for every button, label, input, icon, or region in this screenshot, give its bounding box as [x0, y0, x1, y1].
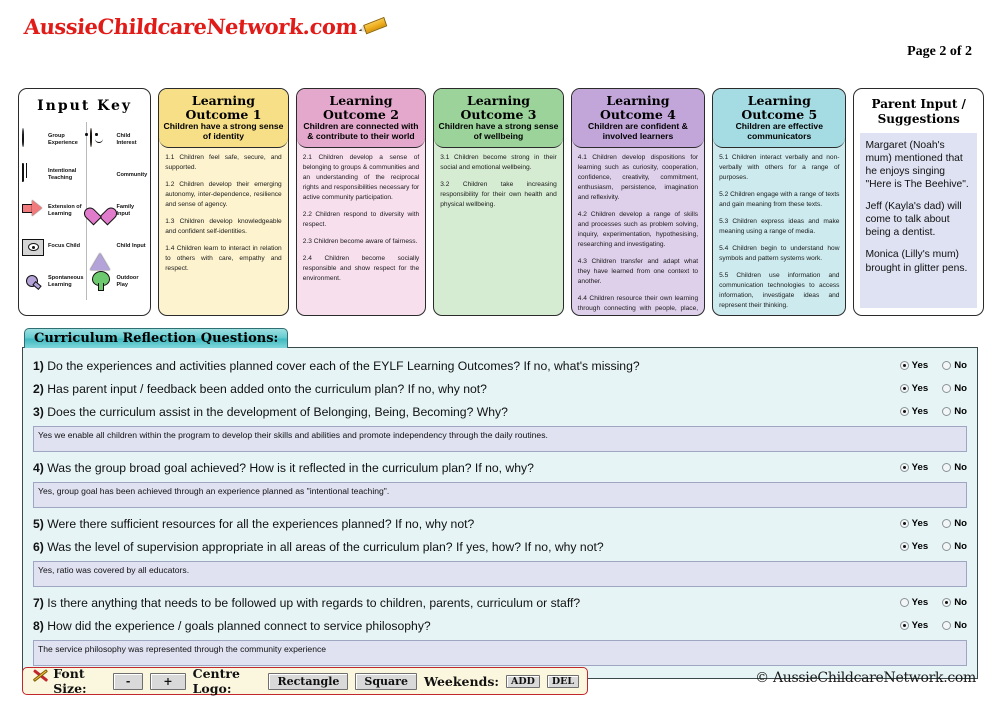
radio-dot[interactable]: [900, 621, 909, 630]
radio-label: Yes: [912, 597, 929, 608]
radio-label: No: [954, 360, 967, 371]
font-size-label: Font Size:: [53, 666, 106, 696]
question-text-4: 4) Was the group broad goal achieved? Ho…: [33, 461, 867, 475]
parent-input-panel: Parent Input / Suggestions Margaret (Noa…: [853, 88, 984, 316]
key-item-child-input: Child Input: [90, 232, 147, 262]
weekends-label: Weekends:: [424, 674, 499, 689]
radio-dot[interactable]: [900, 519, 909, 528]
outcome-subtitle: Children have a strong sense of wellbein…: [438, 122, 559, 142]
heart-icon: [90, 200, 112, 222]
outcomes-row: Input Key Group Experience Intentional T…: [18, 88, 984, 316]
radio-dot[interactable]: [900, 463, 909, 472]
outcome-point: 3.2 Children take increasing responsibil…: [440, 180, 557, 210]
radio-dot[interactable]: [900, 384, 909, 393]
radio-yes-2[interactable]: Yes: [900, 383, 929, 394]
key-label: Outdoor Play: [116, 275, 147, 290]
learning-outcome-3-card: Learning Outcome 3 Children have a stron…: [433, 88, 564, 316]
key-label: Child Interest: [116, 133, 147, 148]
question-text-6: 6) Was the level of supervision appropri…: [33, 540, 867, 554]
triangle-icon: [90, 236, 112, 258]
radio-yes-3[interactable]: Yes: [900, 406, 929, 417]
question-number: 7): [33, 596, 44, 610]
question-number: 6): [33, 540, 44, 554]
radio-dot[interactable]: [900, 361, 909, 370]
weekends-del-button[interactable]: DEL: [547, 675, 579, 688]
question-row-2: 2) Has parent input / feedback been adde…: [33, 377, 967, 400]
key-item-extension-of-learning: Extension of Learning: [22, 196, 83, 226]
outcome-subtitle: Children are confident & involved learne…: [576, 122, 700, 142]
radio-dot[interactable]: [900, 598, 909, 607]
arrow-icon: [22, 200, 44, 222]
star-icon: [90, 164, 112, 186]
key-item-group-experience: Group Experience: [22, 125, 83, 155]
outcome-point: 4.4 Children resource their own learning…: [578, 294, 698, 316]
question-number: 5): [33, 517, 44, 531]
answer-radios-7: Yes No: [867, 597, 967, 608]
input-key-right-column: Child Interest Community Family Input Ch…: [87, 122, 150, 300]
radio-yes-7[interactable]: Yes: [900, 597, 929, 608]
question-number: 4): [33, 461, 44, 475]
radio-no-3[interactable]: No: [942, 406, 967, 417]
book-icon: [22, 164, 44, 186]
outcome-point: 1.1 Children feel safe, secure, and supp…: [165, 153, 282, 173]
question-number: 3): [33, 405, 44, 419]
question-text-8: 8) How did the experience / goals planne…: [33, 619, 867, 633]
outcome-title: Learning Outcome 3: [438, 94, 559, 121]
pencil-icon: [358, 18, 386, 36]
radio-dot[interactable]: [942, 407, 951, 416]
outcome-header: Learning Outcome 1 Children have a stron…: [159, 89, 288, 148]
radio-no-4[interactable]: No: [942, 462, 967, 473]
outcome-subtitle: Children have a strong sense of identity: [163, 122, 284, 142]
radio-label: No: [954, 406, 967, 417]
question-label: Has parent input / feedback been added o…: [47, 382, 487, 396]
outcome-point: 5.3 Children express ideas and make mean…: [719, 217, 839, 237]
radio-no-2[interactable]: No: [942, 383, 967, 394]
outcome-title: Learning Outcome 1: [163, 94, 284, 121]
question-row-6: 6) Was the level of supervision appropri…: [33, 535, 967, 558]
outcome-body: 2.1 Children develop a sense of belongin…: [297, 148, 426, 295]
key-item-spontaneous-learning: Spontaneous Learning: [22, 267, 83, 297]
answer-radios-8: Yes No: [867, 620, 967, 631]
question-label: Were there sufficient resources for all …: [47, 517, 474, 531]
radio-dot[interactable]: [942, 542, 951, 551]
tree-icon: [90, 271, 112, 293]
outcome-point: 1.4 Children learn to interact in relati…: [165, 244, 282, 274]
answer-field-3[interactable]: Yes we enable all children within the pr…: [33, 426, 967, 452]
radio-dot[interactable]: [942, 519, 951, 528]
radio-label: Yes: [912, 360, 929, 371]
question-label: Does the curriculum assist in the develo…: [47, 405, 508, 419]
reflection-section-title: Curriculum Reflection Questions:: [24, 328, 288, 348]
question-row-5: 5) Were there sufficient resources for a…: [33, 512, 967, 535]
outcome-point: 5.4 Children begin to understand how sym…: [719, 244, 839, 264]
radio-label: No: [954, 541, 967, 552]
radio-dot[interactable]: [942, 621, 951, 630]
input-key-panel: Input Key Group Experience Intentional T…: [18, 88, 151, 316]
question-label: Was the level of supervision appropriate…: [47, 540, 603, 554]
answer-radios-6: Yes No: [867, 541, 967, 552]
question-label: How did the experience / goals planned c…: [47, 619, 430, 633]
learning-outcome-1-card: Learning Outcome 1 Children have a stron…: [158, 88, 289, 316]
key-label: Group Experience: [48, 133, 83, 148]
outcome-point: 2.2 Children respond to diversity with r…: [303, 210, 420, 230]
radio-label: No: [954, 597, 967, 608]
outcome-point: 2.1 Children develop a sense of belongin…: [303, 153, 420, 203]
cloud-icon: [22, 129, 44, 151]
radio-yes-6[interactable]: Yes: [900, 541, 929, 552]
outcome-point: 4.1 Children develop dispositions for le…: [578, 153, 698, 203]
outcome-body: 4.1 Children develop dispositions for le…: [572, 148, 704, 316]
reflection-section: Curriculum Reflection Questions: 1) Do t…: [22, 328, 978, 679]
logo-text: AussieChildcareNetwork.com: [23, 14, 358, 39]
outcome-point: 5.2 Children engage with a range of text…: [719, 190, 839, 210]
learning-outcome-4-card: Learning Outcome 4 Children are confiden…: [571, 88, 705, 316]
outcome-header: Learning Outcome 2 Children are connecte…: [297, 89, 426, 148]
radio-no-8[interactable]: No: [942, 620, 967, 631]
radio-no-7[interactable]: No: [942, 597, 967, 608]
smiley-face-icon: [90, 129, 112, 151]
parent-input-entry: Jeff (Kayla's dad) will come to talk abo…: [865, 200, 972, 239]
radio-label: Yes: [912, 406, 929, 417]
lightbulb-icon: [22, 271, 44, 293]
key-label: Family Input: [116, 204, 147, 219]
key-item-child-interest: Child Interest: [90, 125, 147, 155]
outcome-title: Learning Outcome 4: [576, 94, 700, 121]
radio-no-6[interactable]: No: [942, 541, 967, 552]
radio-label: Yes: [912, 462, 929, 473]
answer-radios-2: Yes No: [867, 383, 967, 394]
outcome-header: Learning Outcome 5 Children are effectiv…: [713, 89, 845, 148]
question-label: Do the experiences and activities planne…: [47, 359, 639, 373]
parent-input-entry: Margaret (Noah's mum) mentioned that he …: [865, 139, 972, 191]
outcome-point: 1.2 Children develop their emerging auto…: [165, 180, 282, 210]
question-text-1: 1) Do the experiences and activities pla…: [33, 359, 867, 373]
key-item-family-input: Family Input: [90, 196, 147, 226]
site-logo: AussieChildcareNetwork.com: [23, 14, 386, 39]
key-label: Extension of Learning: [48, 204, 83, 219]
answer-field-8[interactable]: The service philosophy was represented t…: [33, 640, 967, 666]
parent-input-entry: Monica (Lilly's mum) brought in glitter …: [865, 248, 972, 274]
answer-radios-5: Yes No: [867, 518, 967, 529]
question-text-2: 2) Has parent input / feedback been adde…: [33, 382, 867, 396]
outcome-title: Learning Outcome 2: [301, 94, 422, 121]
radio-label: Yes: [912, 383, 929, 394]
tools-icon: [31, 672, 46, 690]
outcome-header: Learning Outcome 3 Children have a stron…: [434, 89, 563, 148]
key-label: Intentional Teaching: [48, 168, 83, 183]
radio-no-5[interactable]: No: [942, 518, 967, 529]
key-label: Focus Child: [48, 243, 80, 250]
reflection-questions-box: 1) Do the experiences and activities pla…: [22, 347, 978, 679]
outcome-title: Learning Outcome 5: [717, 94, 841, 121]
radio-label: No: [954, 383, 967, 394]
question-row-1: 1) Do the experiences and activities pla…: [33, 354, 967, 377]
answer-radios-1: Yes No: [867, 360, 967, 371]
outcome-point: 2.4 Children become socially responsible…: [303, 254, 420, 284]
key-item-community: Community: [90, 160, 147, 190]
outcome-point: 3.1 Children become strong in their soci…: [440, 153, 557, 173]
question-row-7: 7) Is there anything that needs to be fo…: [33, 591, 967, 614]
input-key-title: Input Key: [19, 89, 150, 116]
question-label: Was the group broad goal achieved? How i…: [47, 461, 534, 475]
logo-square-button[interactable]: Square: [355, 673, 417, 690]
eye-icon: [22, 236, 44, 258]
key-label: Child Input: [116, 243, 145, 250]
outcome-header: Learning Outcome 4 Children are confiden…: [572, 89, 704, 148]
key-label: Community: [116, 172, 147, 179]
radio-dot[interactable]: [900, 407, 909, 416]
question-text-5: 5) Were there sufficient resources for a…: [33, 517, 867, 531]
radio-label: No: [954, 518, 967, 529]
radio-dot[interactable]: [942, 384, 951, 393]
footer-copyright: © AussieChildcareNetwork.com: [755, 670, 976, 686]
key-item-intentional-teaching: Intentional Teaching: [22, 160, 83, 190]
outcome-subtitle: Children are connected with & contribute…: [301, 122, 422, 142]
radio-label: Yes: [912, 518, 929, 529]
outcome-point: 1.3 Children develop knowledgeable and c…: [165, 217, 282, 237]
input-key-left-column: Group Experience Intentional Teaching Ex…: [19, 122, 87, 300]
key-item-outdoor-play: Outdoor Play: [90, 267, 147, 297]
parent-input-title: Parent Input / Suggestions: [854, 89, 983, 133]
page-number: Page 2 of 2: [907, 44, 972, 60]
weekends-add-button[interactable]: ADD: [506, 675, 540, 688]
question-row-8: 8) How did the experience / goals planne…: [33, 614, 967, 637]
radio-label: No: [954, 620, 967, 631]
radio-dot[interactable]: [942, 361, 951, 370]
radio-yes-4[interactable]: Yes: [900, 462, 929, 473]
radio-dot[interactable]: [942, 463, 951, 472]
outcome-body: 5.1 Children interact verbally and non-v…: [713, 148, 845, 316]
radio-yes-8[interactable]: Yes: [900, 620, 929, 631]
font-size-decrease-button[interactable]: -: [113, 673, 144, 690]
learning-outcome-2-card: Learning Outcome 2 Children are connecte…: [296, 88, 427, 316]
radio-label: Yes: [912, 541, 929, 552]
outcome-point: 5.1 Children interact verbally and non-v…: [719, 153, 839, 183]
question-text-3: 3) Does the curriculum assist in the dev…: [33, 405, 867, 419]
answer-field-4[interactable]: Yes, group goal has been achieved throug…: [33, 482, 967, 508]
radio-label: Yes: [912, 620, 929, 631]
radio-no-1[interactable]: No: [942, 360, 967, 371]
outcome-point: 4.3 Children transfer and adapt what the…: [578, 257, 698, 287]
radio-yes-1[interactable]: Yes: [900, 360, 929, 371]
parent-input-textarea[interactable]: Margaret (Noah's mum) mentioned that he …: [860, 133, 977, 308]
outcome-point: 5.5 Children use information and communi…: [719, 271, 839, 311]
answer-radios-3: Yes No: [867, 406, 967, 417]
radio-label: No: [954, 462, 967, 473]
learning-outcome-5-card: Learning Outcome 5 Children are effectiv…: [712, 88, 846, 316]
outcome-body: 1.1 Children feel safe, secure, and supp…: [159, 148, 288, 285]
question-text-7: 7) Is there anything that needs to be fo…: [33, 596, 867, 610]
key-label: Spontaneous Learning: [48, 275, 83, 290]
radio-dot[interactable]: [942, 598, 951, 607]
radio-dot[interactable]: [900, 542, 909, 551]
answer-field-6[interactable]: Yes, ratio was covered by all educators.: [33, 561, 967, 587]
outcome-body: 3.1 Children become strong in their soci…: [434, 148, 563, 221]
question-number: 1): [33, 359, 44, 373]
question-number: 2): [33, 382, 44, 396]
outcome-subtitle: Children are effective communicators: [717, 122, 841, 142]
centre-logo-label: Centre Logo:: [193, 666, 262, 696]
question-number: 8): [33, 619, 44, 633]
radio-yes-5[interactable]: Yes: [900, 518, 929, 529]
question-label: Is there anything that needs to be follo…: [47, 596, 580, 610]
bottom-toolbar: Font Size: - + Centre Logo: Rectangle Sq…: [22, 667, 588, 695]
question-row-3: 3) Does the curriculum assist in the dev…: [33, 400, 967, 423]
key-item-focus-child: Focus Child: [22, 232, 83, 262]
font-size-increase-button[interactable]: +: [150, 673, 185, 690]
question-row-4: 4) Was the group broad goal achieved? Ho…: [33, 456, 967, 479]
logo-rectangle-button[interactable]: Rectangle: [268, 673, 348, 690]
outcome-point: 2.3 Children become aware of fairness.: [303, 237, 420, 247]
outcome-point: 4.2 Children develop a range of skills a…: [578, 210, 698, 250]
answer-radios-4: Yes No: [867, 462, 967, 473]
